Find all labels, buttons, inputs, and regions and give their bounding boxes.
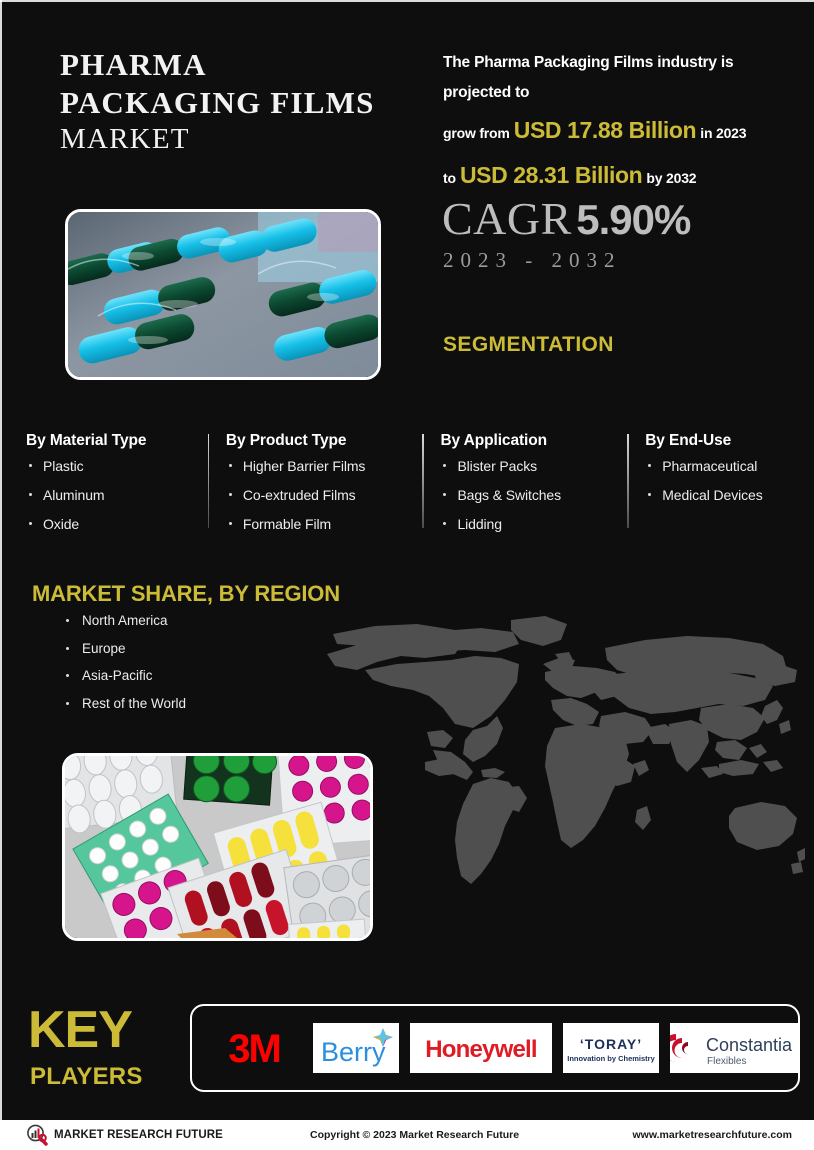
key-players-players-label: PLAYERS: [30, 1065, 143, 1089]
list-item: Blister Packs: [440, 459, 641, 473]
magnifier-chart-icon: [26, 1124, 48, 1146]
footer-copyright: Copyright © 2023 Market Research Future: [310, 1129, 519, 1141]
svg-text:Constantia: Constantia: [706, 1035, 793, 1055]
logo-constantia-flexibles[interactable]: Constantia Flexibles: [670, 1023, 798, 1073]
projection-by-2032: by 2032: [646, 170, 696, 186]
logo-toray[interactable]: ‘TORAY’ Innovation by Chemistry: [563, 1023, 659, 1073]
page-top-border: [0, 0, 814, 2]
cagr-value: 5.90%: [576, 196, 690, 243]
title-line-2: PACKAGING FILMS: [60, 84, 430, 122]
cagr-year-range: 2023 - 2032: [443, 248, 622, 273]
segmentation-column-list: Blister Packs Bags & Switches Lidding: [440, 459, 641, 531]
list-item: Asia-Pacific: [62, 669, 186, 683]
segmentation-column-title: By Application: [440, 432, 641, 450]
title-line-3: MARKET: [60, 122, 430, 157]
list-item: Higher Barrier Films: [226, 459, 437, 473]
segmentation-heading: SEGMENTATION: [443, 333, 614, 357]
column-divider: [422, 434, 424, 528]
projection-lead: The Pharma Packaging Films industry is p…: [443, 54, 733, 101]
infographic-page: PHARMA PACKAGING FILMS MARKET The Pharma…: [0, 0, 814, 1150]
logo-3m[interactable]: 3M: [206, 1023, 302, 1073]
list-item: Bags & Switches: [440, 488, 641, 502]
cagr-block: CAGR 5.90%: [442, 192, 690, 245]
column-divider: [627, 434, 629, 528]
key-players-logo-box: 3M Berry Honeywell: [190, 1004, 800, 1092]
segmentation-column-end-use: By End-Use Pharmaceutical Medical Device…: [641, 432, 797, 546]
segmentation-column-title: By Product Type: [226, 432, 437, 450]
svg-text:3M: 3M: [228, 1027, 280, 1071]
world-map: [305, 612, 805, 942]
segmentation-column-product-type: By Product Type Higher Barrier Films Co-…: [222, 432, 437, 546]
list-item: Europe: [62, 642, 186, 656]
market-share-region-list: North America Europe Asia-Pacific Rest o…: [62, 614, 186, 724]
projection-value-2032: USD 28.31 Billion: [460, 162, 642, 188]
svg-text:Berry: Berry: [321, 1037, 386, 1067]
segmentation-column-title: By Material Type: [26, 432, 222, 450]
segmentation-columns: By Material Type Plastic Aluminum Oxide …: [22, 432, 797, 546]
list-item: Co-extruded Films: [226, 488, 437, 502]
segmentation-column-material-type: By Material Type Plastic Aluminum Oxide: [22, 432, 222, 546]
footer-website[interactable]: www.marketresearchfuture.com: [632, 1129, 792, 1141]
logo-honeywell[interactable]: Honeywell: [410, 1023, 552, 1073]
column-divider: [208, 434, 210, 528]
list-item: Formable Film: [226, 517, 437, 531]
projection-value-2023: USD 17.88 Billion: [514, 117, 696, 143]
svg-text:‘TORAY’: ‘TORAY’: [580, 1036, 642, 1052]
list-item: Plastic: [26, 459, 222, 473]
segmentation-column-list: Plastic Aluminum Oxide: [26, 459, 222, 531]
svg-text:Flexibles: Flexibles: [707, 1056, 746, 1067]
segmentation-column-list: Higher Barrier Films Co-extruded Films F…: [226, 459, 437, 531]
logo-berry[interactable]: Berry: [313, 1023, 399, 1073]
blister-packs-photo: [62, 753, 373, 941]
market-projection-statement: The Pharma Packaging Films industry is p…: [443, 48, 798, 198]
segmentation-column-application: By Application Blister Packs Bags & Swit…: [436, 432, 641, 546]
list-item: Aluminum: [26, 488, 222, 502]
projection-grow-from: grow from: [443, 125, 510, 141]
cagr-label: CAGR: [442, 193, 572, 244]
page-left-border: [0, 0, 2, 1120]
footer-brand: MARKET RESEARCH FUTURE: [26, 1124, 223, 1146]
key-players-key-label: KEY: [28, 1004, 132, 1056]
list-item: North America: [62, 614, 186, 628]
capsules-photo: [65, 209, 381, 380]
list-item: Oxide: [26, 517, 222, 531]
title-line-1: PHARMA: [60, 46, 430, 84]
market-share-heading: MARKET SHARE, BY REGION: [32, 581, 340, 607]
svg-text:Honeywell: Honeywell: [425, 1036, 537, 1063]
svg-text:Innovation by Chemistry: Innovation by Chemistry: [567, 1054, 655, 1063]
page-title: PHARMA PACKAGING FILMS MARKET: [60, 46, 430, 157]
list-item: Pharmaceutical: [645, 459, 797, 473]
segmentation-column-list: Pharmaceutical Medical Devices: [645, 459, 797, 502]
list-item: Medical Devices: [645, 488, 797, 502]
footer-brand-text: MARKET RESEARCH FUTURE: [54, 1129, 223, 1141]
projection-in-2023: in 2023: [700, 125, 746, 141]
page-footer: MARKET RESEARCH FUTURE Copyright © 2023 …: [0, 1120, 814, 1150]
list-item: Rest of the World: [62, 697, 186, 711]
projection-to: to: [443, 170, 456, 186]
segmentation-column-title: By End-Use: [645, 432, 797, 450]
list-item: Lidding: [440, 517, 641, 531]
